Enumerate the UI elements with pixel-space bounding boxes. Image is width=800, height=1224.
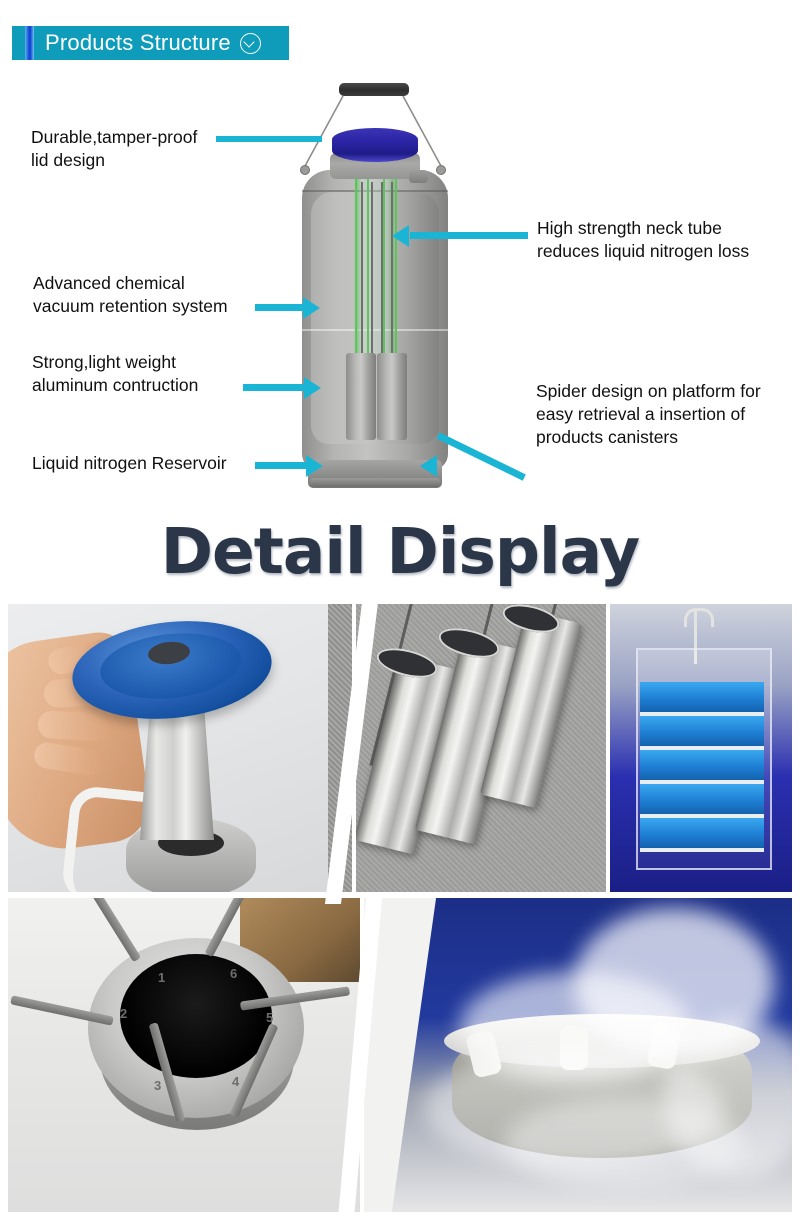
finger [37, 710, 114, 742]
label-reservoir: Liquid nitrogen Reservoir [32, 452, 227, 475]
label-vacuum-system: Advanced chemical vacuum retention syste… [33, 272, 228, 318]
section-title: Products Structure [45, 32, 231, 54]
section-header-products-structure[interactable]: Products Structure [12, 26, 289, 60]
detail-photo-gallery: 1 2 3 4 5 6 [0, 604, 800, 1212]
cryo-box [640, 682, 764, 716]
position-number: 2 [120, 1006, 127, 1021]
label-lid-design: Durable,tamper-proof lid design [31, 126, 197, 172]
label-aluminum-build: Strong,light weight aluminum contruction [32, 351, 198, 397]
cryo-box [640, 784, 764, 818]
gallery-photo-lid-neck[interactable] [8, 604, 352, 892]
cryo-box [640, 750, 764, 784]
label-spider-design: Spider design on platform for easy retri… [536, 380, 761, 449]
position-number: 3 [154, 1078, 161, 1093]
cryo-box [640, 716, 764, 750]
position-number: 6 [230, 966, 237, 981]
tank-opening [120, 954, 272, 1078]
detail-display-heading: Detail Display [0, 515, 800, 588]
gallery-photo-nitrogen-vapor[interactable] [364, 898, 792, 1212]
rack-hook [684, 608, 714, 627]
neck-tube [140, 700, 214, 840]
chevron-down-icon[interactable] [240, 33, 261, 54]
gallery-photo-cryo-rack[interactable] [610, 604, 792, 892]
accent-bar [25, 26, 34, 60]
nitrogen-vapor [504, 1098, 744, 1188]
cryo-box [640, 818, 764, 852]
position-number: 1 [158, 970, 165, 985]
label-neck-tube: High strength neck tube reduces liquid n… [537, 217, 749, 263]
gallery-photo-canisters[interactable] [356, 604, 606, 892]
position-number: 4 [232, 1074, 239, 1089]
position-number: 5 [266, 1010, 273, 1025]
gallery-photo-spider-neck[interactable]: 1 2 3 4 5 6 [8, 898, 360, 1212]
canister-handle [87, 898, 141, 962]
product-structure-diagram: Durable,tamper-proof lid design Advanced… [0, 66, 800, 506]
diagram-labels: Durable,tamper-proof lid design Advanced… [0, 66, 800, 506]
